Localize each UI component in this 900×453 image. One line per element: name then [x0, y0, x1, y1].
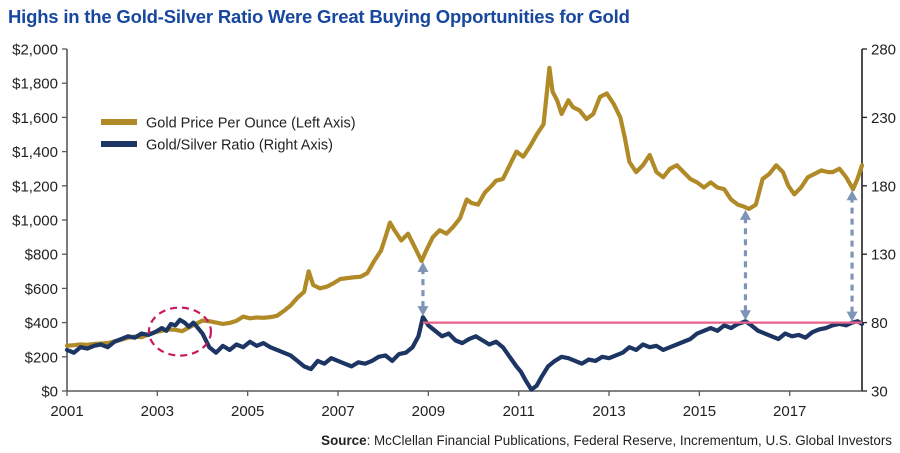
left-axis-tick-label: $0: [41, 384, 58, 401]
x-axis-tick-label: 2005: [231, 403, 264, 420]
chart-container: $0$200$400$600$800$1,000$1,200$1,400$1,6…: [0, 0, 900, 453]
left-axis-tick-label: $1,800: [12, 76, 58, 93]
x-axis-tick-label: 2007: [321, 403, 354, 420]
left-axis-tick-label: $2,000: [12, 42, 58, 59]
axes-group: $0$200$400$600$800$1,000$1,200$1,400$1,6…: [12, 42, 896, 421]
annotation-arrow-head-up: [740, 210, 751, 220]
right-axis-tick-label: 130: [871, 247, 896, 264]
right-axis-tick-label: 230: [871, 110, 896, 127]
annotation-arrow-head-down: [740, 310, 751, 320]
left-axis-tick-label: $800: [25, 247, 58, 264]
left-axis-tick-label: $1,000: [12, 213, 58, 230]
annotation-arrow-head-down: [417, 306, 428, 316]
left-axis-tick-label: $200: [25, 349, 58, 366]
legend-label: Gold Price Per Ounce (Left Axis): [146, 116, 356, 132]
left-axis-tick-label: $600: [25, 281, 58, 298]
source-note: Source: McClellan Financial Publications…: [0, 433, 892, 448]
x-axis-tick-label: 2011: [503, 403, 535, 420]
x-axis-tick-label: 2009: [412, 403, 445, 420]
annotation-arrow-head-up: [417, 262, 428, 272]
x-axis-tick-label: 2013: [592, 403, 625, 420]
legend-label: Gold/Silver Ratio (Right Axis): [146, 138, 333, 154]
chart-legend: Gold Price Per Ounce (Left Axis)Gold/Sil…: [101, 116, 356, 154]
x-axis-tick-label: 2001: [50, 403, 83, 420]
source-label: Source: [321, 433, 366, 448]
right-axis-tick-label: 80: [871, 315, 888, 332]
right-axis-tick-label: 30: [871, 384, 888, 401]
left-axis-tick-label: $1,400: [12, 144, 58, 161]
x-axis-tick-label: 2003: [141, 403, 174, 420]
right-axis-tick-label: 280: [871, 42, 896, 59]
left-axis-tick-label: $1,600: [12, 110, 58, 127]
x-axis-tick-label: 2017: [773, 403, 806, 420]
source-text: : McClellan Financial Publications, Fede…: [367, 433, 892, 448]
series-line: [67, 68, 862, 346]
annotation-arrow-head-up: [847, 190, 858, 200]
right-axis-tick-label: 180: [871, 178, 896, 195]
chart-svg: $0$200$400$600$800$1,000$1,200$1,400$1,6…: [0, 0, 900, 453]
left-axis-tick-label: $400: [25, 315, 58, 332]
left-axis-tick-label: $1,200: [12, 178, 58, 195]
x-axis-tick-label: 2015: [683, 403, 716, 420]
